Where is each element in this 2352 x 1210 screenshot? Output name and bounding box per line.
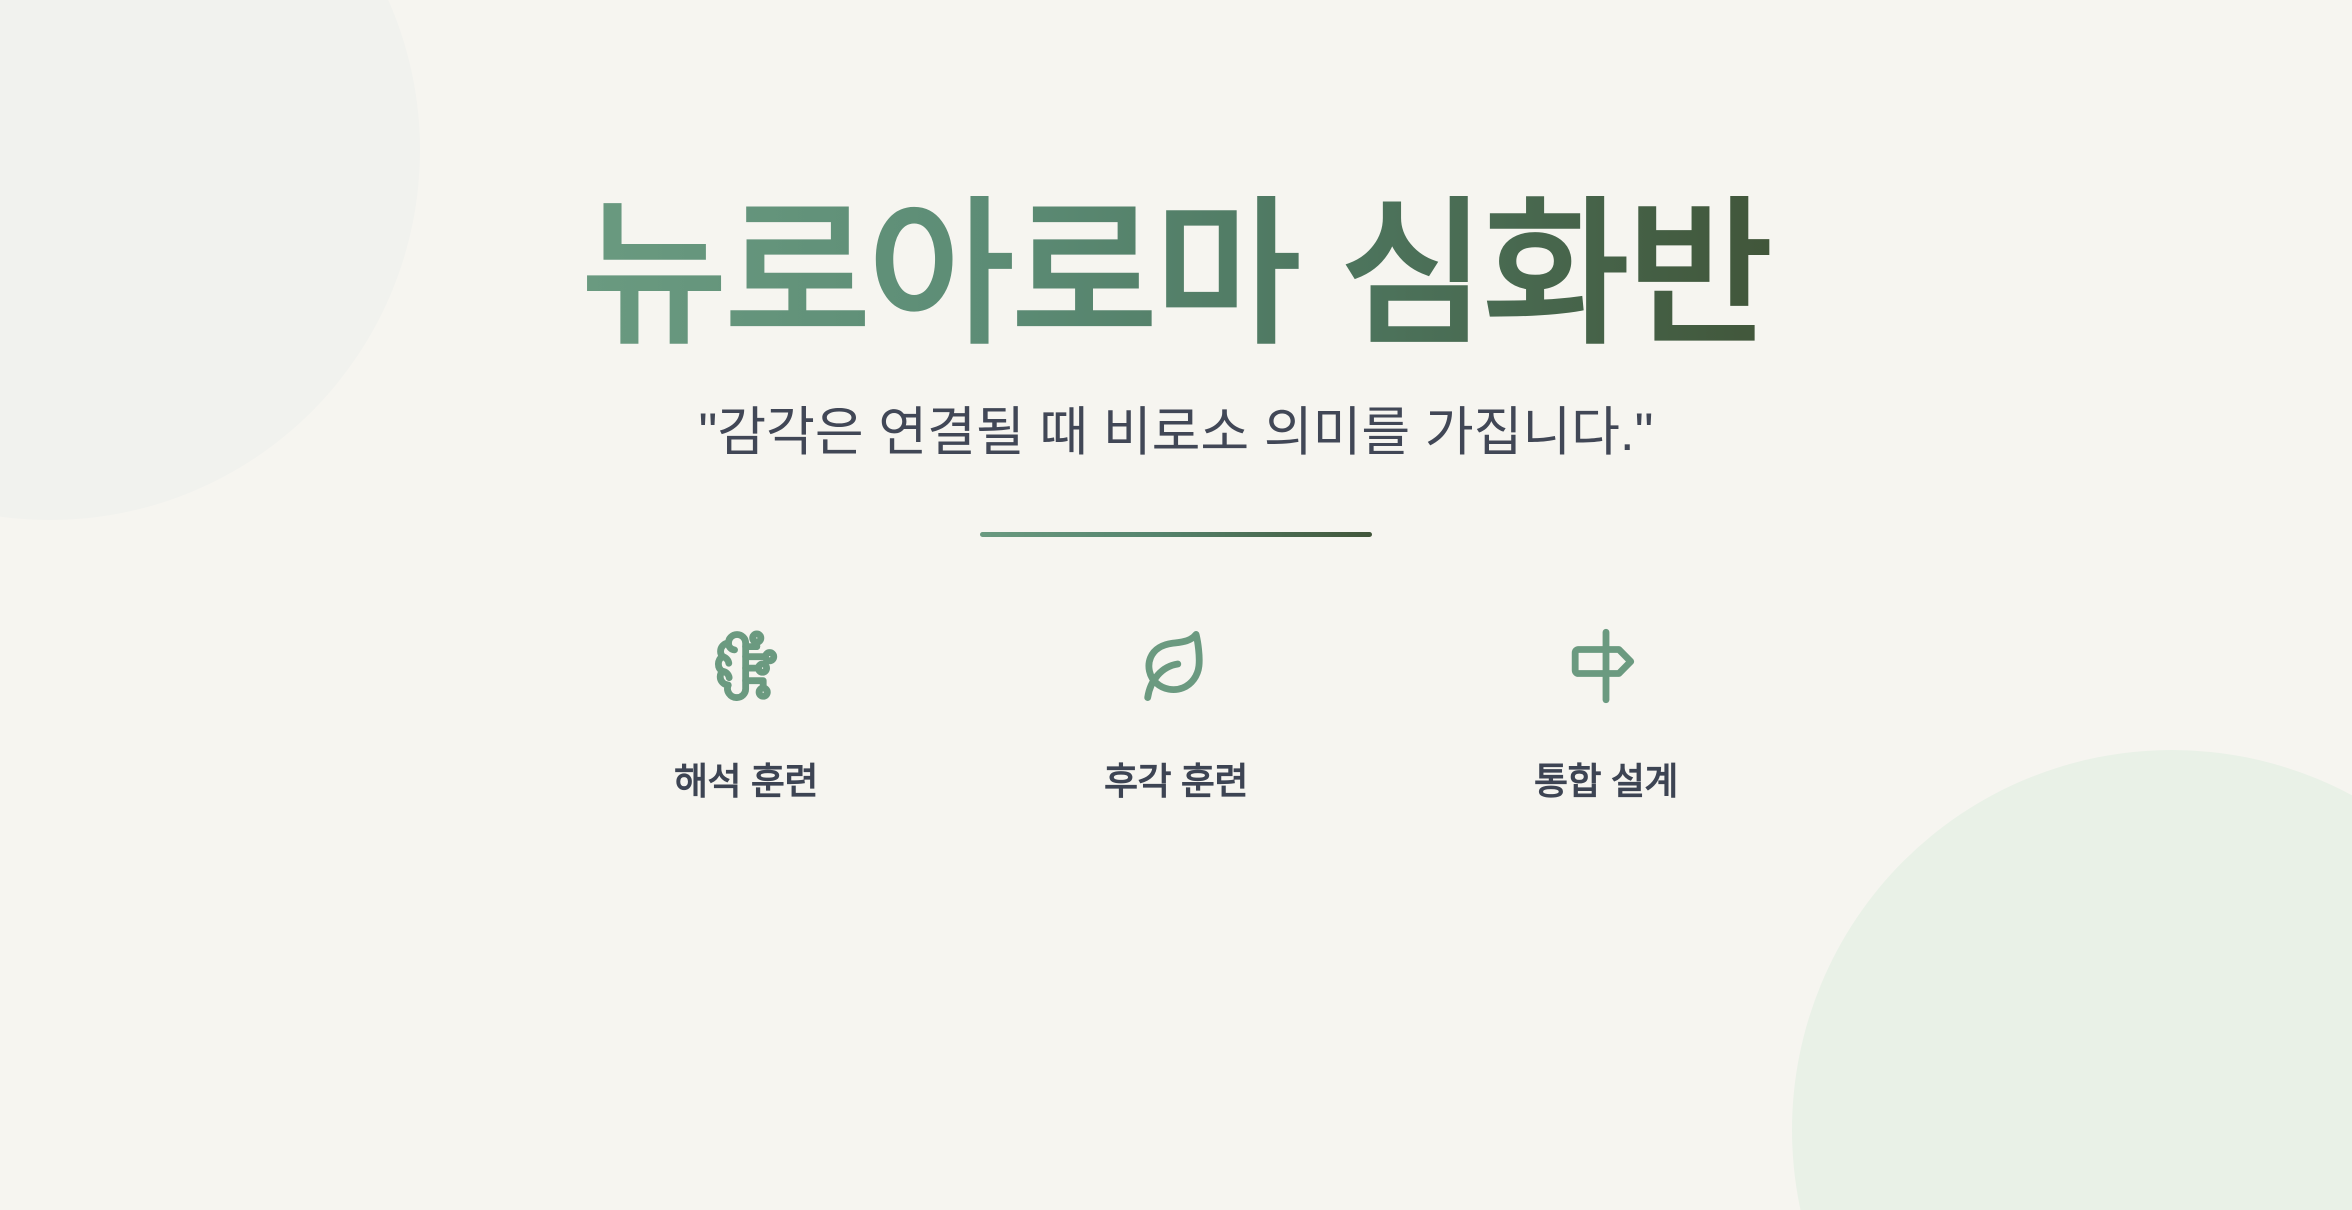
hero-subtitle: "감각은 연결될 때 비로소 의미를 가집니다." <box>699 400 1654 466</box>
feature-item-interpretation: 해석 훈련 <box>626 623 866 805</box>
feature-label: 해석 훈련 <box>674 751 818 805</box>
leaf-icon <box>1133 623 1219 709</box>
feature-label: 후각 훈련 <box>1104 751 1248 805</box>
feature-row: 해석 훈련 후각 훈련 통합 설계 <box>626 623 1726 805</box>
hero-content: 뉴로아로마 심화반 "감각은 연결될 때 비로소 의미를 가집니다." <box>0 0 2352 1210</box>
feature-label: 통합 설계 <box>1534 751 1678 805</box>
signpost-icon <box>1563 623 1649 709</box>
slide-canvas: 뉴로아로마 심화반 "감각은 연결될 때 비로소 의미를 가집니다." <box>0 0 2352 1210</box>
brain-circuit-icon <box>703 623 789 709</box>
page-title: 뉴로아로마 심화반 <box>582 196 1771 354</box>
feature-item-integration: 통합 설계 <box>1486 623 1726 805</box>
feature-item-olfactory: 후각 훈련 <box>1056 623 1296 805</box>
gradient-divider <box>980 532 1372 537</box>
